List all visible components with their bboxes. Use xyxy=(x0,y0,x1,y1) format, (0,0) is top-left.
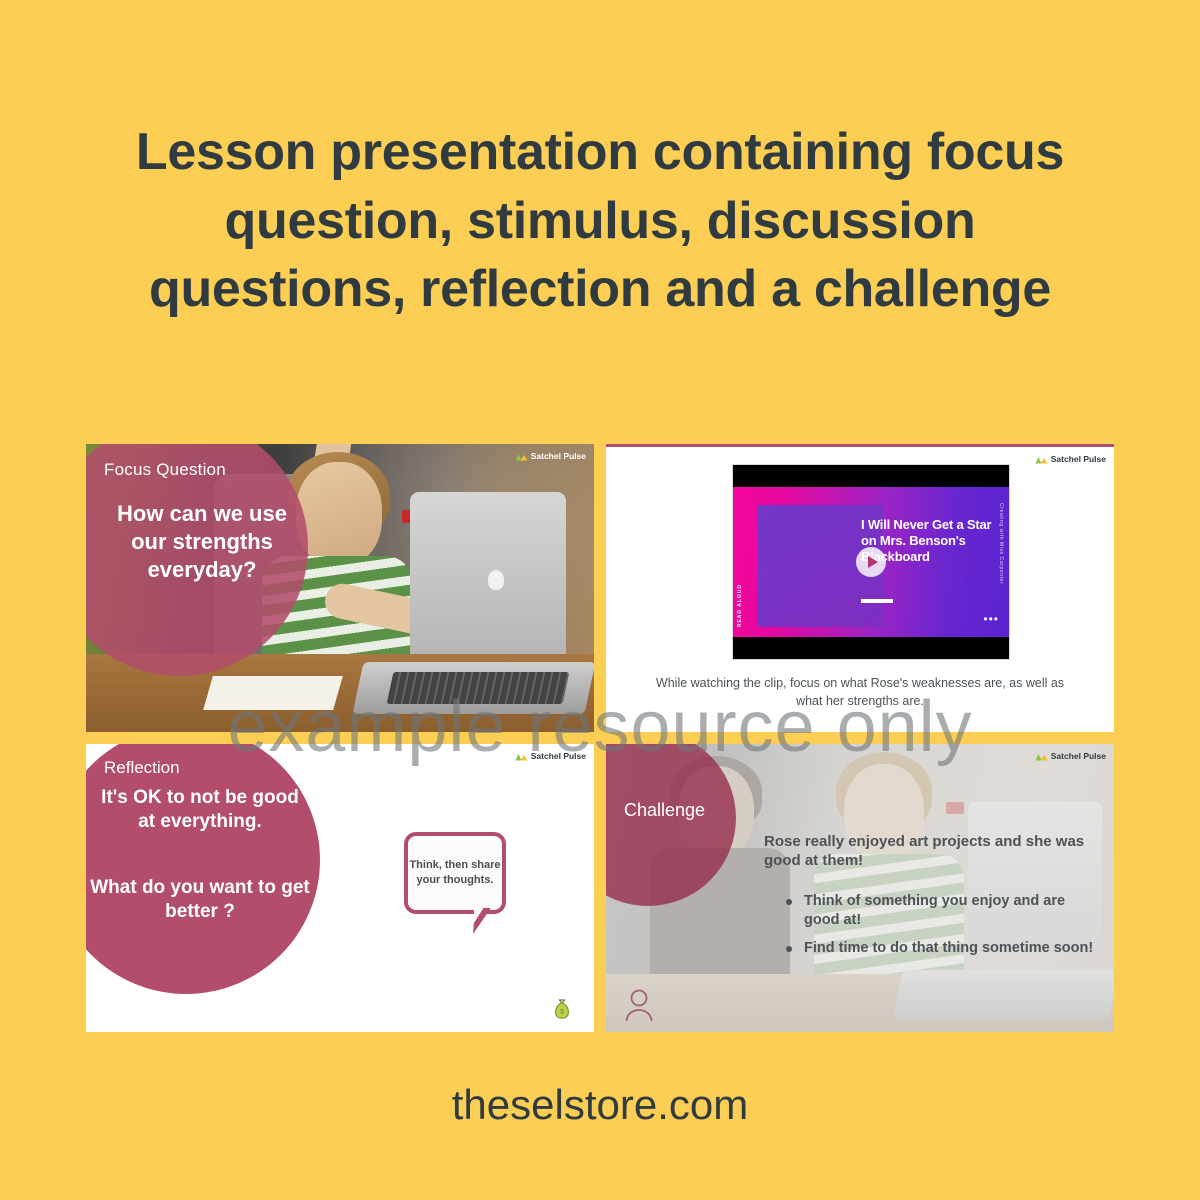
laptop-logo-shape xyxy=(488,570,504,590)
satchel-pulse-logo: Satchel Pulse xyxy=(1035,454,1106,464)
page-title: Lesson presentation containing focus que… xyxy=(0,118,1200,324)
challenge-bullet-list: Think of something you enjoy and are goo… xyxy=(784,892,1100,968)
video-thumbnail[interactable]: I Will Never Get a Star on Mrs. Benson's… xyxy=(733,487,1009,637)
head-shape xyxy=(296,462,382,566)
satchel-pulse-logo: Satchel Pulse xyxy=(1035,751,1106,761)
play-icon[interactable] xyxy=(856,547,886,577)
mountain-logo-icon xyxy=(515,452,528,461)
satchel-pulse-logo: Satchel Pulse xyxy=(515,751,586,761)
reflection-question: What do you want to get better ? xyxy=(88,876,312,924)
slide-kicker-reflection: Reflection xyxy=(104,758,180,778)
slide-reflection[interactable]: Reflection It's OK to not be good at eve… xyxy=(86,744,594,1032)
slide-stimulus[interactable]: Satchel Pulse I Will Never Get a Star on… xyxy=(606,444,1114,732)
money-bag-icon: $ xyxy=(552,998,572,1022)
brand-name: Satchel Pulse xyxy=(1051,751,1106,761)
ellipsis-icon[interactable]: ••• xyxy=(983,613,999,625)
brand-name: Satchel Pulse xyxy=(531,451,586,461)
video-channel: Creating with Miss Carpenter xyxy=(998,503,1004,584)
keyboard-shape xyxy=(387,672,570,704)
read-aloud-badge: READ ALOUD xyxy=(737,584,743,627)
video-underline xyxy=(861,599,893,603)
speech-bubble-icon: Think, then share your thoughts. xyxy=(404,832,506,914)
mountain-logo-icon xyxy=(515,752,528,761)
challenge-lead-text: Rose really enjoyed art projects and she… xyxy=(764,832,1098,870)
video-embed[interactable]: I Will Never Get a Star on Mrs. Benson's… xyxy=(732,464,1010,660)
speech-bubble-text: Think, then share your thoughts. xyxy=(408,858,502,887)
list-item: Find time to do that thing sometime soon… xyxy=(784,939,1100,958)
person-icon xyxy=(624,988,654,1022)
mountain-logo-icon xyxy=(1035,752,1048,761)
brand-name: Satchel Pulse xyxy=(1051,454,1106,464)
kicker-circle xyxy=(86,744,320,994)
slide-challenge[interactable]: Challenge Rose really enjoyed art projec… xyxy=(606,744,1114,1032)
slide-kicker-challenge: Challenge xyxy=(624,800,705,821)
stimulus-caption: While watching the clip, focus on what R… xyxy=(642,675,1078,711)
list-item: Think of something you enjoy and are goo… xyxy=(784,892,1100,929)
slide-grid: Focus Question How can we use our streng… xyxy=(86,444,1114,1036)
satchel-pulse-logo: Satchel Pulse xyxy=(515,451,586,461)
slide-focus-question[interactable]: Focus Question How can we use our streng… xyxy=(86,444,594,732)
mountain-logo-icon xyxy=(1035,455,1048,464)
brand-name: Satchel Pulse xyxy=(531,751,586,761)
paper-shape xyxy=(203,676,343,710)
footer-url: theselstore.com xyxy=(0,1081,1200,1129)
reflection-statement: It's OK to not be good at everything. xyxy=(94,786,306,834)
focus-question-text: How can we use our strengths everyday? xyxy=(102,500,302,584)
svg-text:$: $ xyxy=(560,1008,564,1015)
slide-kicker-focus-question: Focus Question xyxy=(104,460,226,480)
